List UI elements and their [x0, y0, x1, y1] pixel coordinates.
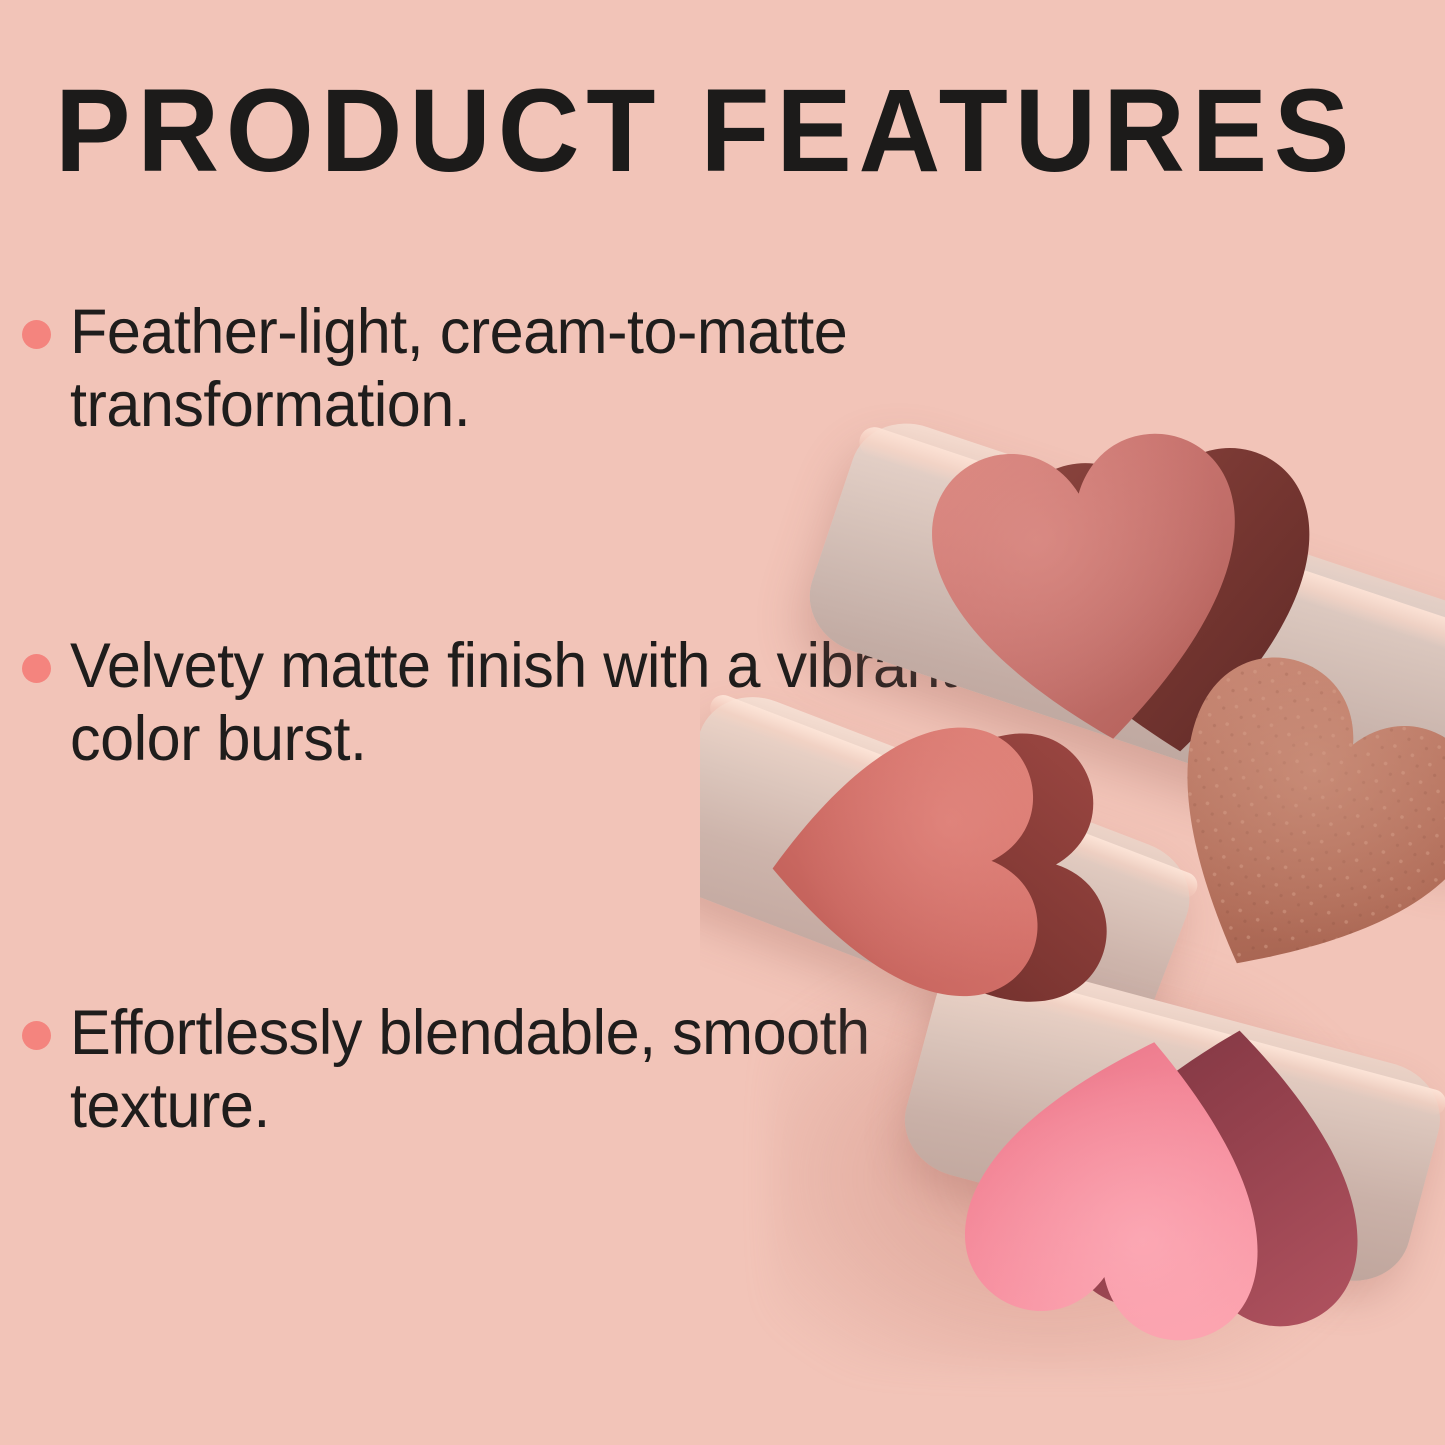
page-title: PRODUCT FEATURES: [55, 72, 1356, 190]
bullet-dot-icon: [22, 654, 51, 683]
product-photo: [700, 380, 1445, 1445]
bullet-dot-icon: [22, 320, 51, 349]
bullet-dot-icon: [22, 1021, 51, 1050]
pink-heart-bullet: [935, 990, 1315, 1370]
product-features-banner: PRODUCT FEATURES Feather-light, cream-to…: [0, 0, 1445, 1445]
coral-heart-bullet: [750, 713, 1052, 1015]
